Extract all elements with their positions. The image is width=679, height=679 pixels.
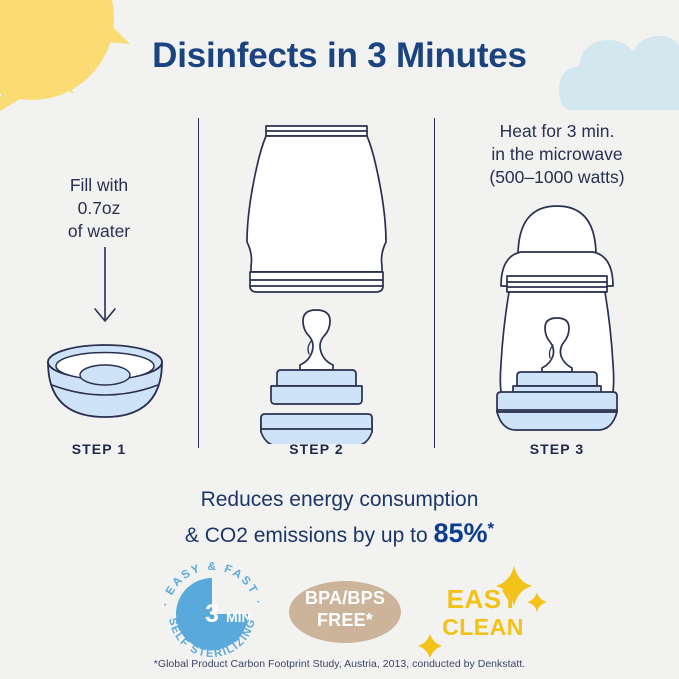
eco-claim-line-2: & CO2 emissions by up to 85%* (0, 514, 679, 550)
eco-claim-line-1: Reduces energy consumption (0, 485, 679, 514)
water-bowl-icon (48, 345, 162, 417)
eco-claim-asterisk: * (488, 519, 495, 538)
step-1-caption-line-3: of water (0, 220, 198, 243)
step-1-column: Fill with 0.7oz of water (0, 112, 198, 457)
promo-poster: Disinfects in 3 Minutes Fill with 0.7oz … (0, 0, 679, 679)
step-1-label: STEP 1 (0, 441, 198, 457)
step-3-caption-line-3: (500–1000 watts) (435, 166, 679, 189)
assembled-bottle-icon (497, 206, 617, 430)
badge-3min-seal: 3 MIN · EASY & FAST · SELF STERILIZING (152, 562, 272, 658)
step-3-label: STEP 3 (435, 441, 679, 457)
badge-ellipse-shape (289, 581, 401, 643)
step-1-illustration (0, 247, 198, 442)
step-2-illustration (199, 114, 434, 449)
eco-claim-prefix: & CO2 emissions by up to (185, 524, 434, 547)
step-3-caption-line-1: Heat for 3 min. (435, 120, 679, 143)
step-3-column: Heat for 3 min. in the microwave (500–10… (435, 112, 679, 457)
badge-easy-clean: EASY CLEAN (418, 562, 548, 658)
step-1-caption-line-1: Fill with (0, 174, 198, 197)
badge-3min-value: 3 (205, 600, 219, 628)
step-2-label: STEP 2 (199, 441, 434, 457)
eco-claim: Reduces energy consumption & CO2 emissio… (0, 485, 679, 550)
step-1-caption: Fill with 0.7oz of water (0, 174, 198, 243)
footnote: *Global Product Carbon Footprint Study, … (0, 658, 679, 670)
step-3-illustration (435, 188, 679, 443)
badge-bpa-free: BPA/BPS FREE* (285, 562, 405, 658)
disassembled-bottle-icon (247, 126, 386, 444)
step-3-caption-line-2: in the microwave (435, 143, 679, 166)
step-1-caption-line-2: 0.7oz (0, 197, 198, 220)
badges-row: 3 MIN · EASY & FAST · SELF STERILIZING B… (0, 562, 679, 658)
eco-claim-highlight: 85% (433, 518, 487, 548)
down-arrow-icon (95, 247, 115, 321)
step-3-caption: Heat for 3 min. in the microwave (500–10… (435, 120, 679, 189)
sparkle-icon (418, 566, 547, 658)
steps-section: Fill with 0.7oz of water (0, 112, 679, 457)
page-title: Disinfects in 3 Minutes (0, 36, 679, 76)
step-2-column: STEP 2 (199, 112, 434, 457)
